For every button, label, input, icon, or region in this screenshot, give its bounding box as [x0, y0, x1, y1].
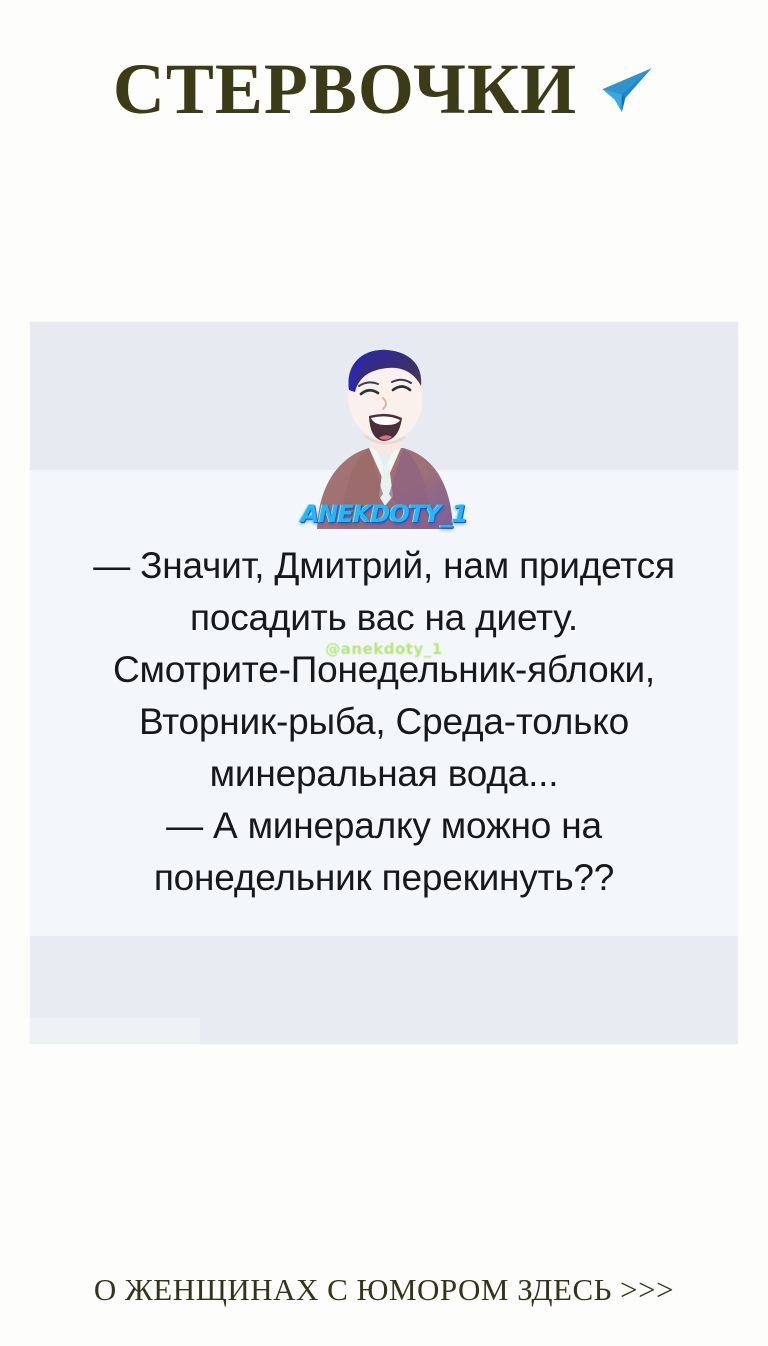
- joke-line: — А минералку можно на: [34, 800, 734, 852]
- footer-promo-link[interactable]: О ЖЕНЩИНАХ С ЮМОРОМ ЗДЕСЬ >>>: [94, 1272, 674, 1307]
- meme-card-wrapper: ANEKDOTY_1 — Значит, Дмитрий, нам придет…: [0, 322, 768, 1044]
- joke-line: посадить вас на диету.: [34, 592, 734, 644]
- telegram-paper-plane-icon[interactable]: [599, 63, 655, 119]
- meme-joke-text: — Значит, Дмитрий, нам придется посадить…: [30, 540, 738, 904]
- joke-line: минеральная вода...: [34, 748, 734, 800]
- page-footer: О ЖЕНЩИНАХ С ЮМОРОМ ЗДЕСЬ >>>: [0, 1272, 768, 1308]
- meme-image-card[interactable]: ANEKDOTY_1 — Значит, Дмитрий, нам придет…: [30, 322, 738, 1044]
- card-bottom-band: [30, 936, 738, 1044]
- channel-watermark-logo-text: ANEKDOTY_1: [301, 500, 467, 528]
- joke-line: Вторник-рыба, Среда-только: [34, 696, 734, 748]
- joke-line: — Значит, Дмитрий, нам придется: [34, 540, 734, 592]
- page-header: СТЕРВОЧКИ: [0, 0, 768, 160]
- channel-handle-watermark: @anekdoty_1: [325, 640, 442, 658]
- header-card-spacer: [0, 160, 768, 322]
- channel-watermark-logo: ANEKDOTY_1: [301, 500, 467, 528]
- joke-line: понедельник перекинуть??: [34, 852, 734, 904]
- page-title: СТЕРВОЧКИ: [113, 53, 577, 125]
